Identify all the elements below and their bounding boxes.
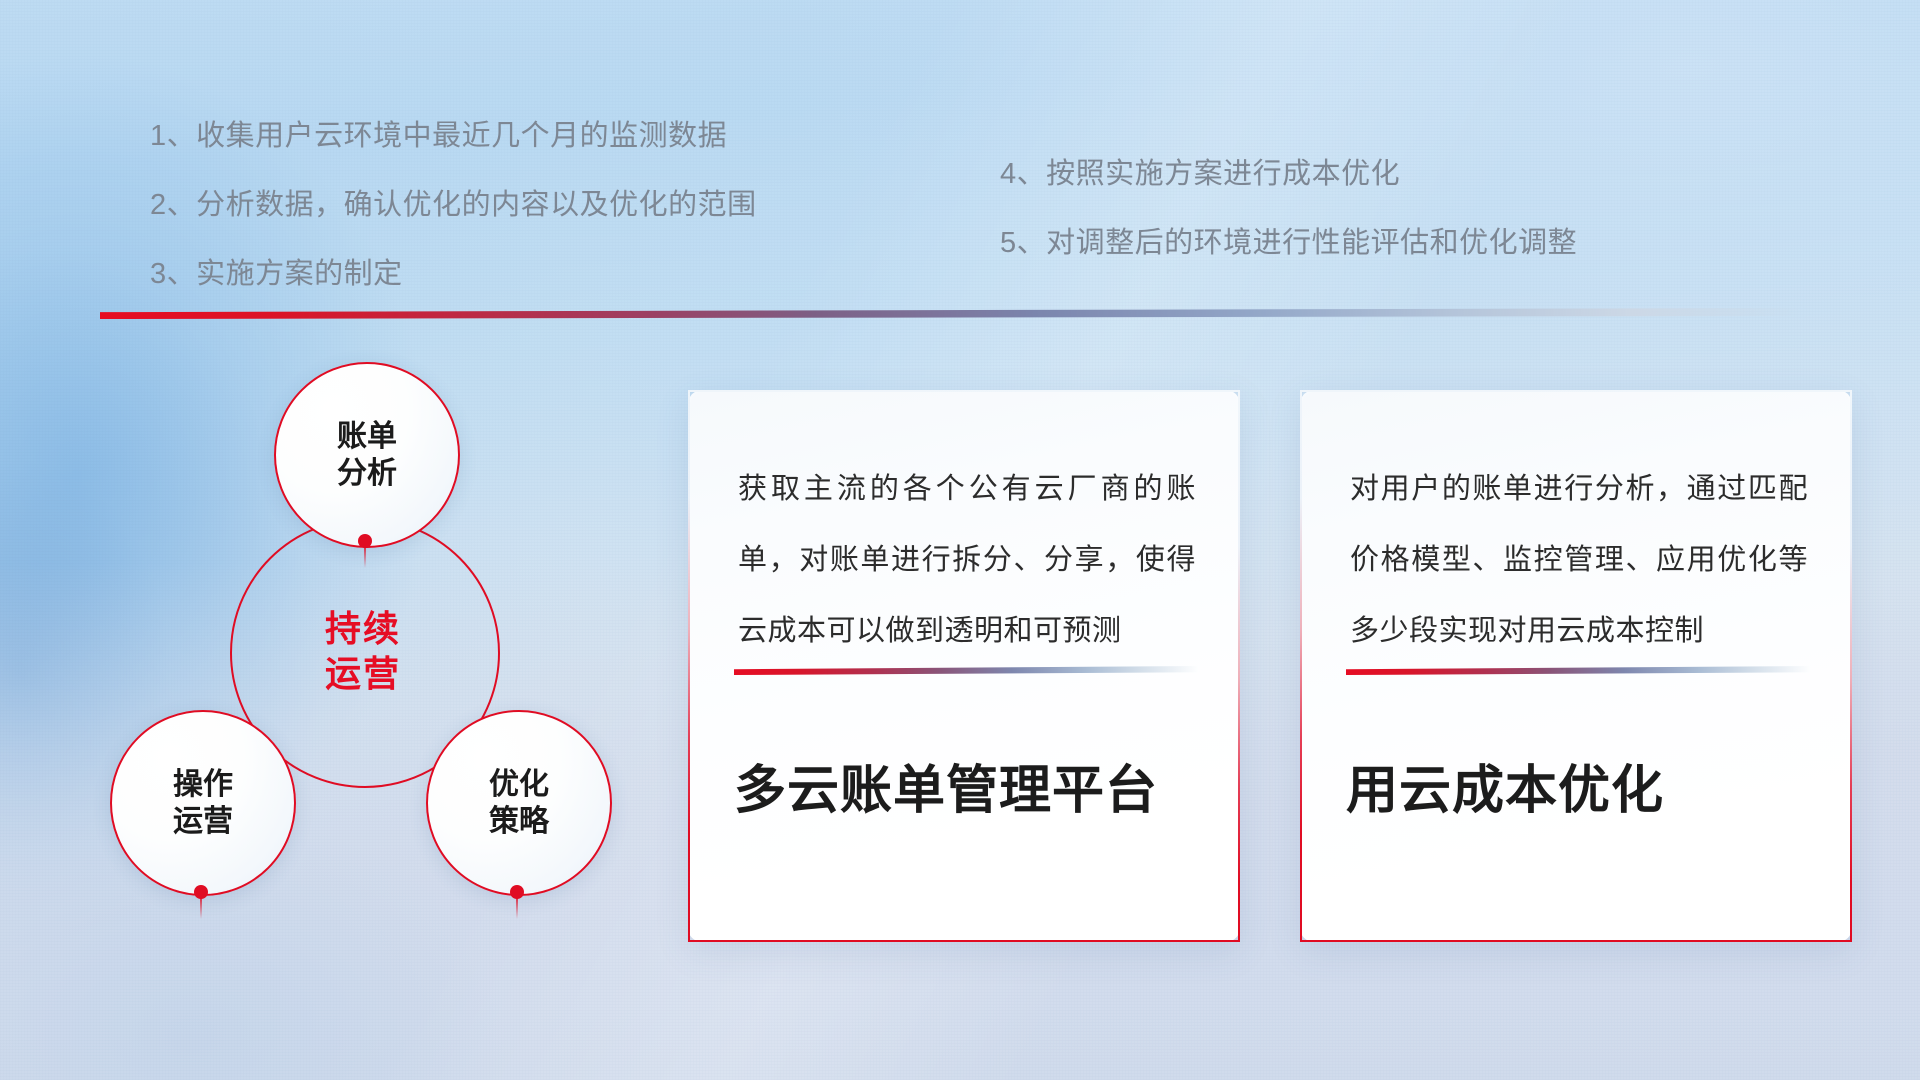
step-item-4: 4、按照实施方案进行成本优化 — [1000, 160, 1577, 189]
feature-card-accent-rule — [1346, 666, 1810, 675]
feature-card-description: 对用户的账单进行分析，通过匹配价格模型、监控管理、应用优化等多少段实现对用云成本… — [1350, 454, 1808, 667]
diagram-node-operations[interactable]: 操作 运营 — [110, 710, 296, 896]
steps-list-left: 1、收集用户云环境中最近几个月的监测数据 2、分析数据，确认优化的内容以及优化的… — [150, 122, 757, 329]
node-label-line-1: 账单 — [337, 418, 397, 456]
header-divider-gradient-bar — [100, 308, 1800, 319]
feature-card-surface: 对用户的账单进行分析，通过匹配价格模型、监控管理、应用优化等多少段实现对用云成本… — [1302, 392, 1850, 940]
header-divider — [100, 308, 1800, 319]
center-label-line-2: 运营 — [325, 651, 401, 696]
diagram-marker-dot-top — [358, 534, 372, 548]
slide-canvas: 1、收集用户云环境中最近几个月的监测数据 2、分析数据，确认优化的内容以及优化的… — [0, 0, 1920, 1080]
diagram-node-bill-analysis[interactable]: 账单 分析 — [274, 362, 460, 548]
diagram-connector-top — [364, 546, 366, 568]
feature-card-accent-rule — [734, 666, 1198, 675]
feature-card-cloud-cost-optimization[interactable]: 对用户的账单进行分析，通过匹配价格模型、监控管理、应用优化等多少段实现对用云成本… — [1300, 390, 1852, 942]
step-item-5: 5、对调整后的环境进行性能评估和优化调整 — [1000, 229, 1577, 258]
feature-card-surface: 获取主流的各个公有云厂商的账单，对账单进行拆分、分享，使得云成本可以做到透明和可… — [690, 392, 1238, 940]
node-label-line-1: 操作 — [173, 766, 233, 804]
continuous-operation-diagram: 持续 运营 账单 分析 操作 运营 优化 策略 — [96, 352, 656, 952]
diagram-marker-dot-right — [510, 885, 524, 899]
steps-list-right: 4、按照实施方案进行成本优化 5、对调整后的环境进行性能评估和优化调整 — [1000, 160, 1577, 298]
diagram-node-optimization-strategy[interactable]: 优化 策略 — [426, 710, 612, 896]
step-item-2: 2、分析数据，确认优化的内容以及优化的范围 — [150, 191, 757, 220]
feature-card-multicloud-billing[interactable]: 获取主流的各个公有云厂商的账单，对账单进行拆分、分享，使得云成本可以做到透明和可… — [688, 390, 1240, 942]
node-label-line-2: 分析 — [337, 455, 397, 493]
diagram-connector-right — [516, 897, 518, 919]
step-item-3: 3、实施方案的制定 — [150, 260, 757, 289]
node-label-line-1: 优化 — [489, 766, 549, 804]
node-label-line-2: 策略 — [489, 803, 549, 841]
feature-card-description: 获取主流的各个公有云厂商的账单，对账单进行拆分、分享，使得云成本可以做到透明和可… — [738, 454, 1196, 667]
step-item-1: 1、收集用户云环境中最近几个月的监测数据 — [150, 122, 757, 151]
node-label-line-2: 运营 — [173, 803, 233, 841]
center-label-line-1: 持续 — [325, 606, 401, 651]
diagram-marker-dot-left — [194, 885, 208, 899]
feature-card-title: 用云成本优化 — [1346, 760, 1820, 822]
feature-card-title: 多云账单管理平台 — [734, 760, 1208, 822]
diagram-connector-left — [200, 897, 202, 919]
